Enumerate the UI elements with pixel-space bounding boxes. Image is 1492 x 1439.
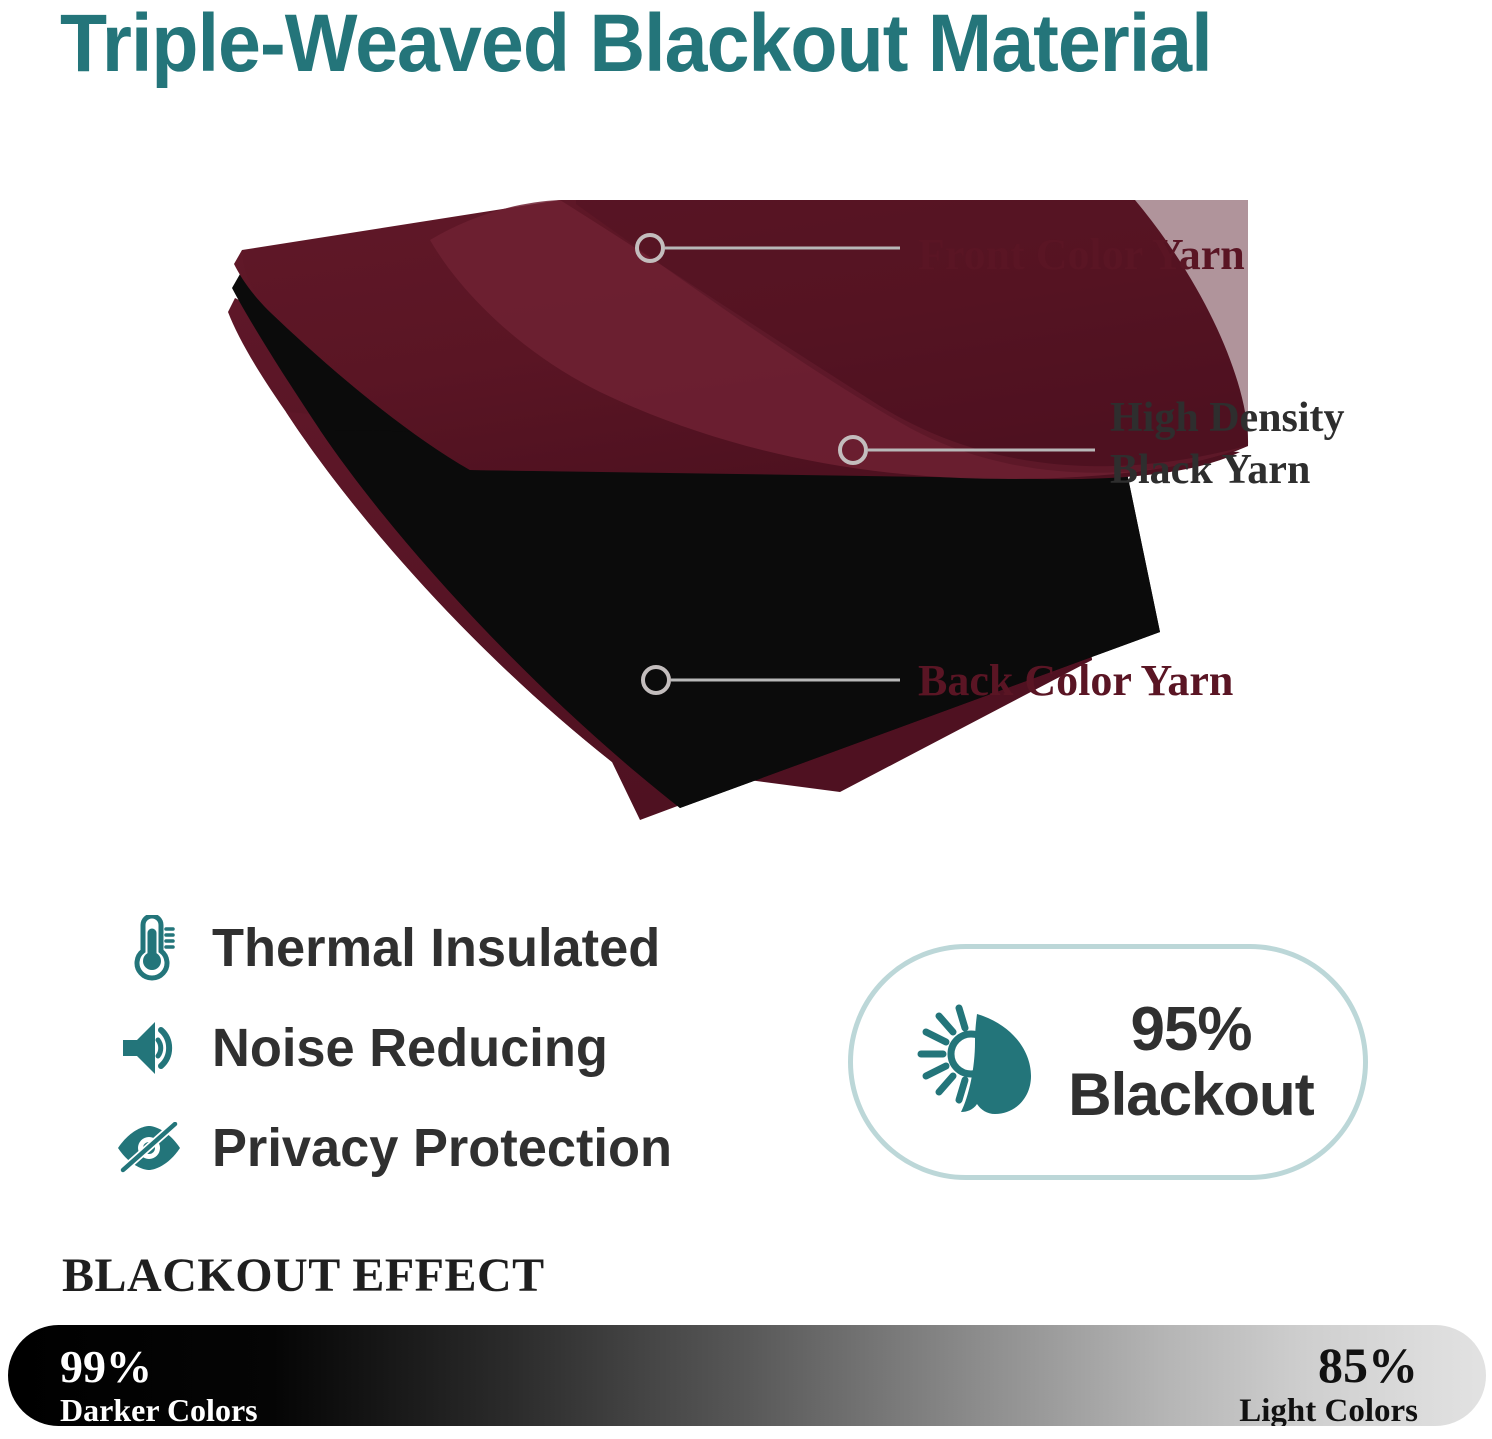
blackout-badge: 95% Blackout <box>848 944 1368 1180</box>
feature-label-privacy-protection: Privacy Protection <box>212 1118 672 1178</box>
gradient-bar-left-percent: 99% <box>60 1343 258 1391</box>
feature-item-privacy-protection: Privacy Protection <box>112 1098 812 1198</box>
callout-label-middle-line2: Black Yarn <box>1110 444 1345 496</box>
speaker-icon <box>112 1011 186 1085</box>
blackout-effect-gradient-bar: 99% Darker Colors 85% Light Colors <box>8 1325 1486 1426</box>
layer-black-sheet-body <box>320 430 1160 808</box>
sun-blocked-icon <box>902 987 1052 1137</box>
page-title: Triple-Weaved Blackout Material <box>60 0 1376 92</box>
gradient-bar-left-description: Darker Colors <box>60 1391 258 1426</box>
blackout-badge-label: Blackout <box>1068 1061 1313 1128</box>
eye-slash-icon <box>112 1111 186 1185</box>
feature-item-thermal-insulated: Thermal Insulated <box>112 898 812 998</box>
callout-label-back: Back Color Yarn <box>918 654 1233 708</box>
triple-weave-layer-diagram <box>0 180 1492 820</box>
gradient-bar-left-stat: 99% Darker Colors <box>60 1343 258 1426</box>
blackout-effect-heading: BLACKOUT EFFECT <box>62 1248 545 1304</box>
feature-list: Thermal Insulated Noise Reducing Privacy… <box>112 898 812 1198</box>
callout-label-middle-line1: High Density <box>1110 392 1345 444</box>
feature-label-noise-reducing: Noise Reducing <box>212 1018 608 1078</box>
gradient-bar-right-description: Light Colors <box>1239 1391 1418 1426</box>
feature-label-thermal-insulated: Thermal Insulated <box>212 918 660 978</box>
thermometer-icon <box>112 911 186 985</box>
blackout-badge-percent: 95% <box>1130 995 1251 1064</box>
callout-label-front: Front Color Yarn <box>918 228 1245 282</box>
gradient-bar-right-percent: 85% <box>1239 1339 1418 1391</box>
callout-label-middle: High Density Black Yarn <box>1110 392 1345 496</box>
blackout-badge-text: 95% Blackout <box>1068 997 1313 1127</box>
feature-item-noise-reducing: Noise Reducing <box>112 998 812 1098</box>
gradient-bar-right-stat: 85% Light Colors <box>1239 1339 1418 1426</box>
